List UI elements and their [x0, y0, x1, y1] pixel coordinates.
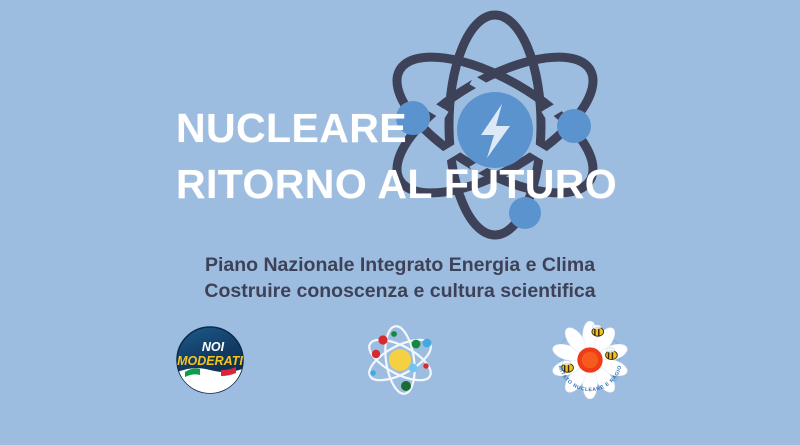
electron-dot: [423, 339, 432, 348]
electron-dot: [391, 331, 397, 337]
atom-nucleus: [389, 349, 411, 371]
colorful-atom-logo: [361, 320, 439, 400]
electron-dot: [378, 335, 387, 344]
subtitle-line-1: Piano Nazionale Integrato Energia e Clim…: [204, 252, 595, 278]
title-line-2: RITORNO AL FUTURO: [176, 156, 617, 212]
electron-dot: [370, 370, 376, 376]
electron-dot: [401, 381, 411, 391]
title-line-1: NUCLEARE: [176, 100, 617, 156]
noi-moderati-line-2: MODERATI: [177, 354, 243, 368]
electron-dot: [412, 340, 421, 349]
subtitle-line-2: Costruire conoscenza e cultura scientifi…: [204, 278, 595, 304]
electron-dot: [372, 350, 380, 358]
page-subtitle: Piano Nazionale Integrato Energia e Clim…: [204, 252, 595, 304]
noi-moderati-line-1: NOI: [202, 340, 225, 354]
noi-moderati-logo: NOI MODERATI: [171, 320, 249, 400]
electron-dot: [423, 363, 428, 368]
logo-strip: NOI MODERATI: [0, 318, 800, 402]
electron-dot: [409, 364, 418, 373]
poster-canvas: NUCLEARE RITORNO AL FUTURO Piano Naziona…: [0, 0, 800, 445]
page-title: NUCLEARE RITORNO AL FUTURO: [176, 100, 617, 212]
comitato-nucleare-e-ragione-logo: COMITATO NUCLEARE E RAGIONE: [551, 320, 629, 400]
bee-icon: [592, 325, 604, 337]
